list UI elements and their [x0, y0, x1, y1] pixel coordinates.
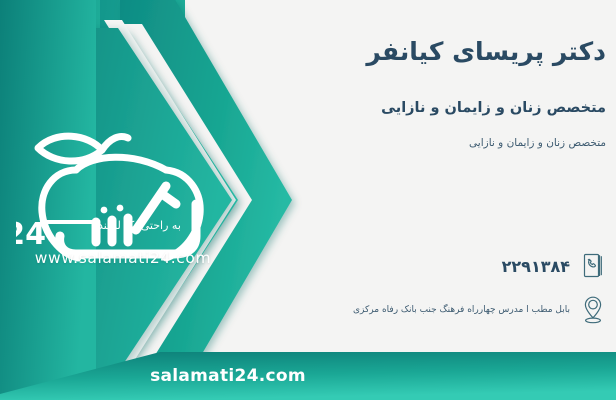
phonebook-icon: [580, 250, 606, 282]
logo-tagline: به راحتی یک لبخند: [98, 219, 213, 232]
info-panel: دکتر پریسای کیانفر متخصص زنان و زایمان و…: [316, 0, 616, 352]
business-card: 24 به راحتی یک لبخند www.salamati24.com …: [0, 0, 616, 400]
doctor-specialty-secondary: متخصص زنان و زایمان و نازایی: [331, 137, 606, 151]
phone-row[interactable]: ۲۲۹۱۳۸۴: [316, 250, 606, 282]
doctor-name: دکتر پریسای کیانفر: [331, 36, 606, 67]
footer-bar: salamati24.com: [0, 352, 616, 400]
phone-number: ۲۲۹۱۳۸۴: [502, 257, 570, 276]
teal-panel: [0, 0, 340, 400]
logo-url: www.salamati24.com: [28, 249, 218, 267]
address-text: بابل مطب ا مدرس چهارراه فرهنگ جنب بانک ر…: [353, 304, 570, 317]
chevron-overlay: [0, 0, 340, 400]
address-row[interactable]: بابل مطب ا مدرس چهارراه فرهنگ جنب بانک ر…: [316, 294, 606, 326]
location-pin-icon: [580, 294, 606, 326]
footer-url[interactable]: salamati24.com: [0, 352, 616, 400]
doctor-specialty: متخصص زنان و زایمان و نازایی: [331, 99, 606, 118]
